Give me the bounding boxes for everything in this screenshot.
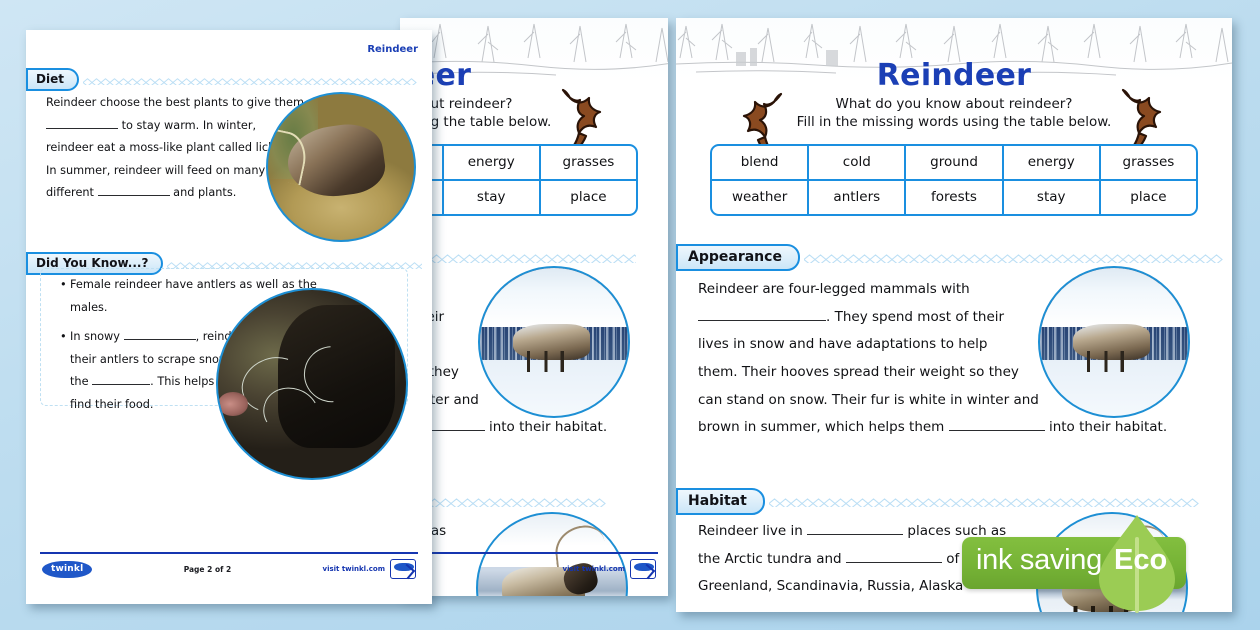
word-bank-row-1: blend cold ground energy grasses (712, 146, 1196, 179)
text-line: brown in summer, which helps them (698, 419, 944, 435)
answer-blank-3[interactable] (807, 534, 903, 535)
word-bank-cell-ground[interactable]: ground (904, 146, 1001, 179)
section-header-appearance: Appearance (400, 244, 636, 271)
subtitle-line-1: What do you know about reindeer? (400, 96, 668, 114)
text-line: In snowy (70, 330, 120, 343)
text-line: and plants. (173, 186, 236, 199)
photo-lichen-antlers (216, 288, 408, 480)
twinkl-logo[interactable]: twinkl (42, 561, 92, 578)
answer-blank-dyk-1[interactable] (124, 339, 196, 340)
text-line: different (46, 186, 94, 199)
answer-blank-diet-1[interactable] (46, 128, 118, 129)
text-line: find their food. (70, 398, 154, 411)
text-line: to stay warm. In winter, (122, 119, 256, 132)
diet-body-text: Reindeer choose the best plants to give … (46, 92, 306, 205)
text-line: lives in snow and have adaptations to he… (698, 336, 987, 352)
answer-blank-1[interactable] (698, 320, 826, 321)
word-bank-cell[interactable]: place (539, 181, 636, 214)
page-number: Page 2 of 2 (184, 565, 232, 574)
dotted-divider (769, 496, 1224, 507)
answer-blank-diet-2[interactable] (98, 195, 170, 196)
photo-snow-forest-reindeer (1038, 266, 1190, 418)
photo-grazing-reindeer (266, 92, 416, 242)
section-header-appearance: Appearance (676, 244, 1224, 271)
worksheet-title: Reindeer (400, 58, 668, 93)
worksheet-subtitle: What do you know about reindeer? Fill in… (400, 96, 668, 132)
twinkl-stamp-icon (390, 559, 416, 579)
text-line: Reindeer choose the best plants to give … (46, 96, 304, 109)
dotted-divider (400, 252, 636, 263)
word-bank-cell-place[interactable]: place (1099, 181, 1196, 214)
section-title-habitat: Habitat (676, 488, 765, 515)
word-bank-row-1: blend cold ground energy grasses (400, 146, 636, 179)
answer-blank-4[interactable] (846, 562, 942, 563)
section-title-diet: Diet (26, 68, 79, 91)
word-bank-table: blend cold ground energy grasses weather… (400, 144, 638, 216)
word-bank-row-2: weather antlers forests stay place (712, 179, 1196, 214)
text-line: reindeer eat a moss-like plant called li… (46, 141, 293, 154)
word-bank-cell-antlers[interactable]: antlers (807, 181, 904, 214)
word-bank-cell-forests[interactable]: forests (904, 181, 1001, 214)
text-line: the (70, 375, 89, 388)
text-line: Greenland, Scandinavia, Russia, Alaska (698, 578, 963, 594)
text-line: them. Their hooves spread their weight s… (698, 364, 1019, 380)
word-bank-cell-cold[interactable]: cold (807, 146, 904, 179)
word-bank-cell[interactable]: grasses (539, 146, 636, 179)
text-line: into their habitat. (489, 419, 607, 435)
page-footer: twinkl Page 1 of 2 visit twinkl.com (400, 552, 668, 579)
word-bank-cell[interactable]: stay (442, 181, 539, 214)
text-line: the Arctic tundra and (698, 551, 842, 567)
word-bank-cell-blend[interactable]: blend (712, 146, 807, 179)
twinkl-stamp-icon (630, 559, 656, 579)
section-header-habitat: Habitat (676, 488, 1224, 515)
dotted-divider (400, 496, 636, 507)
subtitle-line-2: Fill in the missing words using the tabl… (400, 114, 668, 132)
word-bank-cell[interactable]: energy (442, 146, 539, 179)
text-line: can stand on snow. Their fur is white in… (698, 392, 1039, 408)
eco-badge-text: ink saving (976, 544, 1102, 577)
word-bank-cell-stay[interactable]: stay (1002, 181, 1099, 214)
text-line: Reindeer are four-legged mammals with (698, 281, 970, 297)
text-line: into their habitat. (1049, 419, 1167, 435)
section-header-diet: Diet (26, 68, 422, 91)
word-bank-cell-grasses[interactable]: grasses (1099, 146, 1196, 179)
dotted-divider (83, 74, 422, 85)
word-bank-cell-weather[interactable]: weather (712, 181, 807, 214)
text-line: In summer, reindeer will feed on many (46, 164, 265, 177)
word-bank-cell-energy[interactable]: energy (1002, 146, 1099, 179)
answer-blank-dyk-2[interactable] (92, 384, 150, 385)
word-bank-table: blend cold ground energy grasses weather… (710, 144, 1198, 216)
text-line: Reindeer live in (698, 523, 803, 539)
dotted-divider (804, 252, 1224, 263)
section-header-habitat: Habitat (400, 488, 636, 515)
visit-link[interactable]: visit twinkl.com (323, 565, 385, 573)
corner-page-label: Reindeer (367, 44, 418, 55)
answer-blank-2[interactable] (949, 430, 1045, 431)
worksheet-page-1-duplicate[interactable]: Reindeer What do you know about reindeer… (400, 18, 668, 596)
word-bank-row-2: weather antlers forests stay place (400, 179, 636, 214)
eco-badge-word: Eco (1114, 544, 1167, 577)
page-footer: twinkl Page 2 of 2 visit twinkl.com (26, 552, 432, 579)
ink-saving-eco-badge: ink saving Eco (962, 531, 1202, 595)
worksheet-page-2[interactable]: Reindeer Diet Reindeer choose the best p… (26, 30, 432, 604)
visit-link[interactable]: visit twinkl.com (563, 565, 625, 573)
section-title-appearance: Appearance (676, 244, 800, 271)
text-line: of (946, 551, 959, 567)
text-line: . They spend most of their (826, 309, 1004, 325)
photo-snow-forest-reindeer (478, 266, 630, 418)
